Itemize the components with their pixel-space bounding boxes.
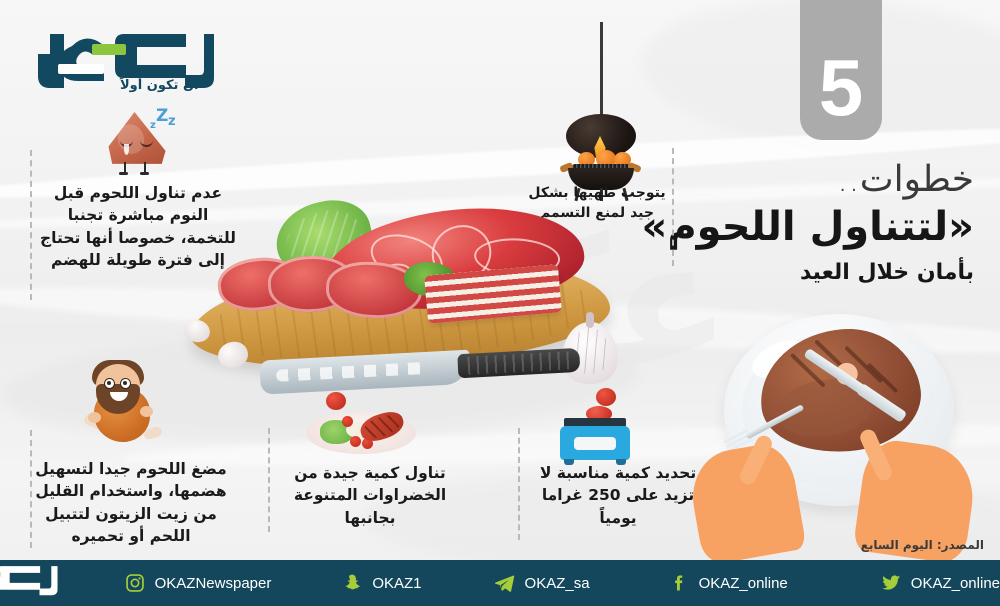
social-instagram[interactable]: OKAZNewspaper	[124, 572, 272, 594]
social-handle: OKAZ1	[372, 575, 421, 592]
tip-chew-well: مضغ اللحوم جيدا لتسهيل هضمها، واستخدام ا…	[26, 458, 236, 548]
social-handle: OKAZ_sa	[525, 575, 590, 592]
facebook-icon	[668, 572, 690, 594]
step-count-badge: 5	[800, 0, 882, 140]
social-snapchat[interactable]: OKAZ1	[341, 572, 421, 594]
step-count-value: 5	[819, 50, 864, 140]
divider-line	[268, 428, 270, 532]
meat-cutting-board-illustration	[176, 196, 646, 416]
steak-plate-illustration	[700, 308, 1000, 558]
social-twitter[interactable]: OKAZ_online	[880, 572, 1000, 594]
tip-text: تناول كمية جيدة من الخضراوات المتنوعة بج…	[280, 462, 460, 529]
social-facebook[interactable]: OKAZ_online	[668, 572, 788, 594]
divider-line	[672, 148, 674, 266]
social-footer: OKAZ_online OKAZ_online OKAZ_sa OKAZ1	[0, 560, 1000, 606]
social-handle: OKAZ_online	[911, 575, 1000, 592]
tip-eat-vegetables: تناول كمية جيدة من الخضراوات المتنوعة بج…	[280, 462, 460, 529]
divider-line	[518, 428, 520, 540]
social-telegram[interactable]: OKAZ_sa	[494, 572, 590, 594]
instagram-icon	[124, 572, 146, 594]
tomato-icon	[596, 388, 616, 406]
snapchat-icon	[341, 572, 363, 594]
infographic-canvas: عكاظ أن تكون أولاً 5 خطوات.. «لتتناول ال…	[0, 0, 1000, 606]
footer-okaz-logo	[0, 562, 60, 604]
social-handle: OKAZ_online	[699, 575, 788, 592]
tip-text: مضغ اللحوم جيدا لتسهيل هضمها، واستخدام ا…	[26, 458, 236, 548]
tip-limit-quantity: تحديد كمية مناسبة لا تزيد على 250 غراما …	[528, 462, 708, 529]
source-credit: المصدر: اليوم السابع	[861, 538, 984, 552]
logo-tagline: أن تكون أولاً	[120, 78, 199, 93]
twitter-icon	[880, 572, 902, 594]
telegram-icon	[494, 572, 516, 594]
salad-plate-icon	[306, 404, 416, 456]
social-handle: OKAZNewspaper	[155, 575, 272, 592]
kitchen-scale-icon	[552, 406, 638, 468]
tip-text: تحديد كمية مناسبة لا تزيد على 250 غراما …	[528, 462, 708, 529]
drumstick-character-icon	[74, 362, 170, 454]
divider-line	[30, 150, 32, 300]
sleeping-meat-icon: Zzz	[98, 108, 178, 180]
